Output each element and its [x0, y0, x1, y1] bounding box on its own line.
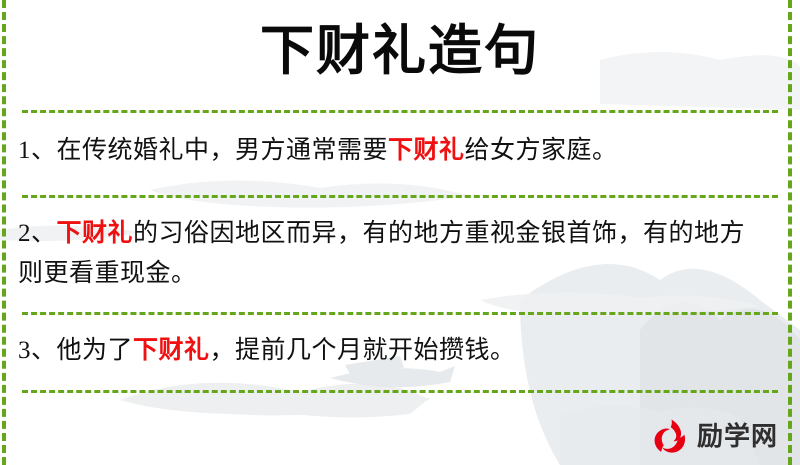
list-item: 2、下财礼的习俗因地区而异，有的地方重视金银首饰，有的地方则更看重现金。 — [18, 195, 770, 312]
sentence-index: 2、 — [18, 220, 57, 247]
logo-text: 励学网 — [697, 422, 778, 452]
sentence-index: 3、 — [18, 337, 57, 364]
list-item: 1、在传统婚礼中，男方通常需要下财礼给女方家庭。 — [18, 110, 770, 195]
keyword-highlight: 下财礼 — [57, 218, 134, 247]
site-logo: 励学网 — [651, 417, 778, 457]
sentence-text-before: 在传统婚礼中，男方通常需要 — [57, 137, 389, 164]
keyword-highlight: 下财礼 — [388, 135, 465, 164]
worksheet-page: 下财礼造句 1、在传统婚礼中，男方通常需要下财礼给女方家庭。 2、下财礼的习俗因… — [0, 0, 800, 465]
sentence-text-after: ，提前几个月就开始攒钱。 — [210, 337, 516, 364]
sentence-index: 1、 — [18, 137, 57, 164]
sentence-text-before: 他为了 — [57, 337, 134, 364]
sentence-text-after: 给女方家庭。 — [465, 137, 618, 164]
keyword-highlight: 下财礼 — [133, 335, 210, 364]
list-item: 3、他为了下财礼，提前几个月就开始攒钱。 — [18, 312, 770, 390]
red-swirl-flame-icon — [651, 417, 691, 457]
divider-after-sentence-3 — [22, 390, 778, 393]
sentence-list: 1、在传统婚礼中，男方通常需要下财礼给女方家庭。 2、下财礼的习俗因地区而异，有… — [18, 110, 770, 390]
page-title: 下财礼造句 — [0, 17, 800, 83]
